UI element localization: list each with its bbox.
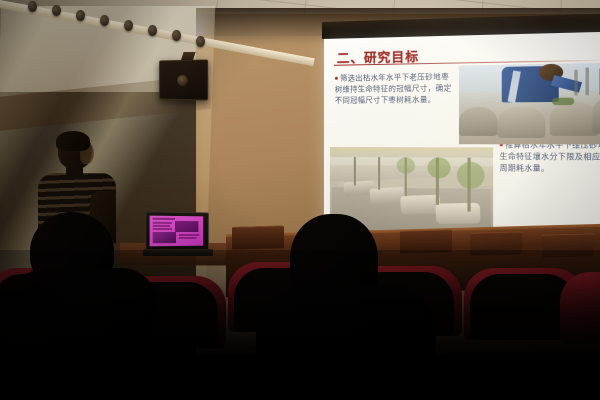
slide-bullet-2: 推算枯水年水平下维压砂地枣树生命特征壤水分下限及相应的育周期耗水量。 — [500, 139, 600, 175]
chair-back — [232, 225, 284, 249]
laptop-slide-text-line — [153, 225, 170, 227]
speaker-cone-icon — [177, 75, 188, 86]
laptop-slide-text-line — [153, 222, 172, 224]
chair-back — [542, 233, 594, 257]
laptop-slide-photo-b — [153, 232, 176, 243]
curtain-ring-icon — [172, 30, 181, 41]
curtain-ring-icon — [148, 25, 157, 36]
laptop-keyboard-base — [143, 249, 213, 256]
curtain-ring-icon — [124, 20, 133, 31]
laptop-display — [150, 216, 204, 247]
projected-slide: 二、研究目标 筛选出枯水年水平下老压砂地枣树维持生命特征的冠幅尺寸，确定不同冠幅… — [324, 31, 600, 242]
laptop-slide-text-line — [179, 237, 197, 239]
presenter-laptop — [146, 212, 208, 264]
slide-bullet-1-text: 筛选出枯水年水平下老压砂地枣树维持生命特征的冠幅尺寸，确定不同冠幅尺寸下枣树耗水… — [335, 72, 452, 105]
bullet-marker-icon — [335, 77, 338, 80]
laptop-slide-text-line — [153, 228, 172, 230]
chair-back — [470, 231, 522, 255]
curtain-ring-icon — [100, 15, 109, 26]
laptop-lid — [145, 211, 208, 252]
curtain-ring-icon — [196, 36, 205, 47]
laptop-slide-photo-a — [175, 221, 198, 232]
foreground-shadow — [0, 280, 600, 400]
curtain-ring-icon — [52, 5, 61, 16]
laptop-slide-title-bar — [153, 218, 175, 220]
presenter-hair — [56, 131, 90, 151]
curtain-ring-icon — [28, 1, 37, 12]
wall-speaker — [159, 59, 208, 100]
curtain-ring-icon — [76, 10, 85, 21]
slide-bullet-1: 筛选出枯水年水平下老压砂地枣树维持生命特征的冠幅尺寸，确定不同冠幅尺寸下枣树耗水… — [335, 71, 456, 106]
slide-bullet-2-text: 推算枯水年水平下维压砂地枣树生命特征壤水分下限及相应的育周期耗水量。 — [500, 140, 600, 173]
chair-back — [400, 229, 452, 253]
lecture-hall-photo: 二、研究目标 筛选出枯水年水平下老压砂地枣树维持生命特征的冠幅尺寸，确定不同冠幅… — [0, 0, 600, 400]
laptop-slide-text-line — [179, 234, 199, 236]
slide-photo-researcher-planters — [459, 63, 600, 145]
